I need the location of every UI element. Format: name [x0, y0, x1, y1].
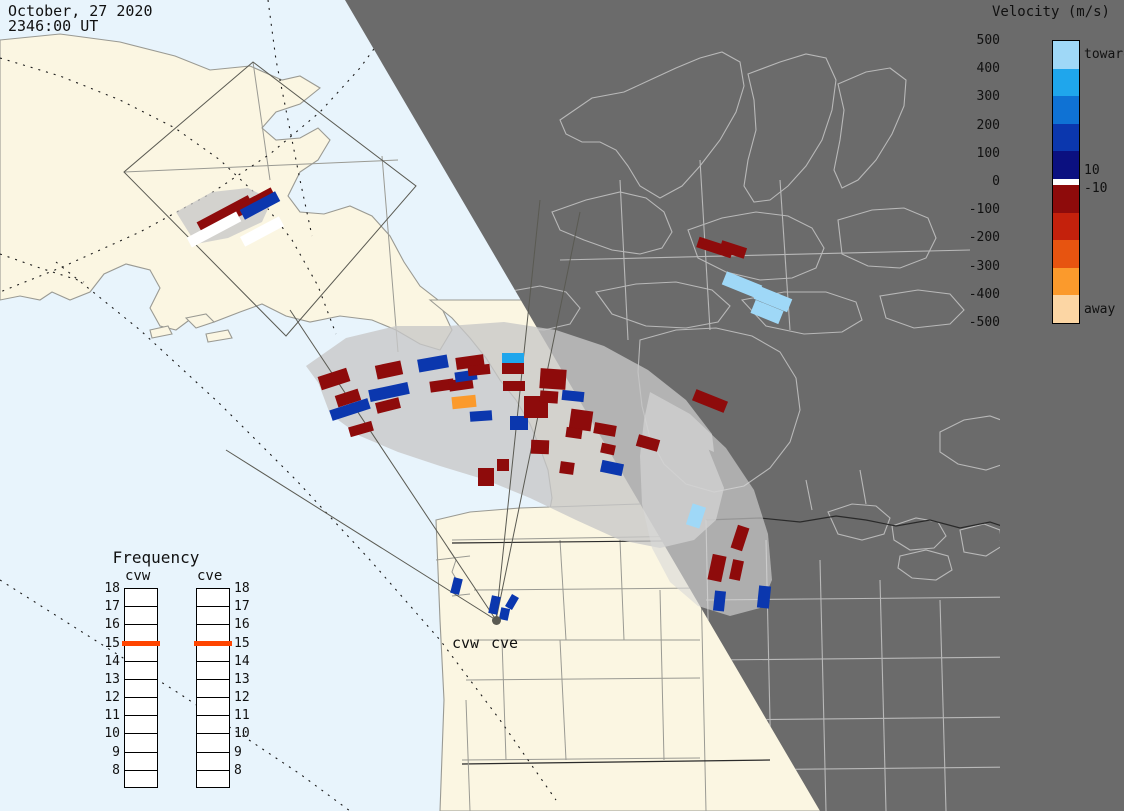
frequency-scale-number: 18 [234, 582, 256, 595]
velocity-cell [540, 390, 559, 403]
frequency-scale-number: 16 [234, 618, 256, 631]
frequency-scale-cell [197, 734, 229, 752]
colorbar-segment [1053, 151, 1079, 180]
colorbar-segment [1053, 69, 1079, 98]
frequency-scale-number: 9 [98, 746, 120, 759]
radar-map-window: cvw cve October, 27 2020 2346:00 UT Freq… [0, 0, 1124, 811]
frequency-scale-number: 8 [234, 764, 256, 777]
frequency-scale-number: 16 [98, 618, 120, 631]
colorbar-away-label: away [1084, 303, 1115, 316]
frequency-column-label-cve: cve [197, 568, 222, 584]
site-label-cvw: cvw [452, 634, 479, 652]
frequency-column-label-cvw: cvw [125, 568, 150, 584]
frequency-scale-cell [125, 607, 157, 625]
colorbar-segment [1053, 268, 1079, 297]
frequency-scale-number: 8 [98, 764, 120, 777]
frequency-scale-number: 11 [98, 709, 120, 722]
frequency-scale-number: 10 [234, 727, 256, 740]
frequency-scale-number: 12 [234, 691, 256, 704]
colorbar-tick: -100 [940, 203, 1000, 216]
frequency-scale-number: 15 [98, 637, 120, 650]
frequency-scale-number: 12 [98, 691, 120, 704]
colorbar-segment [1053, 96, 1079, 125]
frequency-scale-cell [197, 589, 229, 607]
frequency-scale-number: 11 [234, 709, 256, 722]
frequency-scale-cell [197, 680, 229, 698]
colorbar-tick: -300 [940, 260, 1000, 273]
frequency-scale-cell [197, 662, 229, 680]
velocity-cell [559, 461, 575, 475]
colorbar-tick: 300 [940, 90, 1000, 103]
frequency-marker-cve [194, 641, 232, 646]
velocity-cell [565, 427, 582, 439]
frequency-legend: Frequency cvw18171615141312111098cve1817… [96, 548, 256, 788]
colorbar-segment [1053, 124, 1079, 153]
velocity-cell [539, 368, 566, 390]
colorbar-gradient[interactable] [1052, 40, 1080, 324]
frequency-legend-title: Frequency [96, 548, 216, 567]
colorbar-segment [1053, 295, 1079, 324]
velocity-cell [478, 468, 494, 486]
frequency-scale-cvw[interactable] [124, 588, 158, 788]
colorbar-title: Velocity (m/s) [978, 4, 1124, 20]
colorbar-tick: 100 [940, 147, 1000, 160]
frequency-scale-number: 14 [98, 655, 120, 668]
frequency-scale-cell [125, 734, 157, 752]
frequency-marker-cvw [122, 641, 160, 646]
frequency-scale-cell [125, 662, 157, 680]
frequency-scale-cell [197, 644, 229, 662]
colorbar-positive-threshold-label: 10 [1084, 164, 1100, 177]
frequency-scale-cell [197, 753, 229, 771]
colorbar-segment [1053, 185, 1079, 214]
frequency-scale-number: 15 [234, 637, 256, 650]
frequency-scale-number: 14 [234, 655, 256, 668]
velocity-cell [503, 381, 525, 391]
velocity-cell [502, 363, 524, 374]
timestamp: October, 27 2020 2346:00 UT [8, 4, 153, 34]
frequency-scale-cell [197, 607, 229, 625]
colorbar-tick: -200 [940, 231, 1000, 244]
site-label-cve: cve [491, 634, 518, 652]
velocity-colorbar: Velocity (m/s) 5004003002001000-100-200-… [1000, 0, 1124, 811]
colorbar-negative-threshold-label: -10 [1084, 182, 1107, 195]
velocity-cell [497, 459, 509, 471]
frequency-scale-cell [197, 716, 229, 734]
frequency-scale-number: 10 [98, 727, 120, 740]
frequency-scale-cell [197, 698, 229, 716]
frequency-scale-cell [125, 698, 157, 716]
frequency-scale-cell [125, 644, 157, 662]
velocity-cell [531, 440, 549, 455]
colorbar-tick: 0 [940, 175, 1000, 188]
colorbar-segment [1053, 41, 1079, 70]
velocity-cell [713, 590, 726, 611]
velocity-cell [510, 416, 528, 430]
colorbar-segment [1053, 213, 1079, 242]
radar-site-marker [492, 616, 501, 625]
colorbar-tick: 200 [940, 119, 1000, 132]
colorbar-tick: 400 [940, 62, 1000, 75]
frequency-scale-number: 18 [98, 582, 120, 595]
frequency-scale-number: 9 [234, 746, 256, 759]
frequency-scale-number: 13 [234, 673, 256, 686]
frequency-scale-cell [125, 680, 157, 698]
colorbar-segment [1053, 240, 1079, 269]
frequency-scale-number: 17 [98, 600, 120, 613]
frequency-scale-cell [125, 716, 157, 734]
velocity-cell [451, 395, 476, 409]
timestamp-time: 2346:00 UT [8, 17, 98, 35]
colorbar-tick: -500 [940, 316, 1000, 329]
colorbar-toward-label: toward [1084, 48, 1124, 61]
frequency-scale-number: 13 [98, 673, 120, 686]
colorbar-tick: -400 [940, 288, 1000, 301]
frequency-scale-cve[interactable] [196, 588, 230, 788]
frequency-scale-number: 17 [234, 600, 256, 613]
frequency-scale-cell [125, 753, 157, 771]
map-canvas[interactable]: cvw cve October, 27 2020 2346:00 UT Freq… [0, 0, 1000, 811]
velocity-cell [470, 410, 493, 422]
colorbar-tick: 500 [940, 34, 1000, 47]
velocity-cell [562, 390, 585, 402]
velocity-cell [757, 585, 771, 608]
frequency-scale-cell [125, 589, 157, 607]
